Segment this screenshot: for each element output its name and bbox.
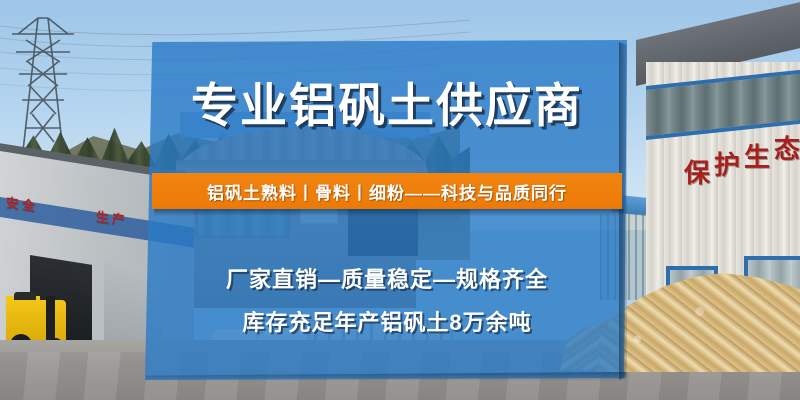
wall-slogan-char-4: 态 [774,136,800,162]
wall-slogan-char-3: 生 [744,144,770,170]
wall-slogan-char-2: 护 [714,152,740,178]
left-wall-char-4: 产 [112,211,126,228]
left-wall-char-3: 生 [96,209,110,226]
banner-subline-2: 库存充足年产铝矾土8万余吨 [152,305,622,337]
banner-headline: 专业铝矾土供应商 [152,78,622,134]
promotional-banner: 安 全 生 产 保 护 生 态 专业铝矾 [0,0,800,400]
left-wall-char-2: 全 [22,197,36,214]
wall-slogan-char-1: 保 [684,160,710,186]
orange-band-shadow [154,209,624,216]
banner-subline-1: 厂家直销—质量稳定—规格齐全 [152,262,622,294]
banner-tagline: 铝矾土熟料丨骨料丨细粉——科技与品质同行 [152,173,622,209]
left-wall-char-1: 安 [6,195,20,212]
transmission-tower-icon [8,10,78,160]
